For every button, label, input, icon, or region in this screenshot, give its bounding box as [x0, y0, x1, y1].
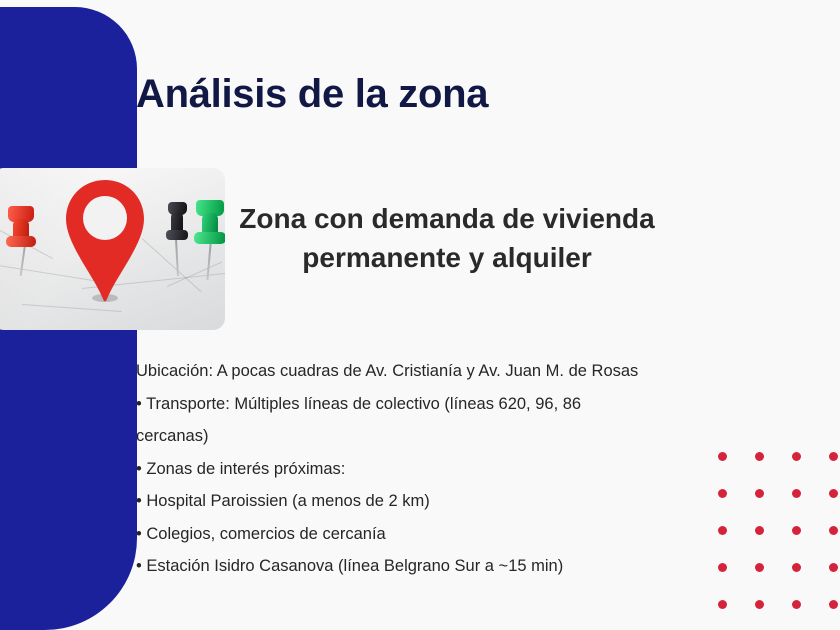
decor-dot — [755, 489, 764, 498]
decor-dot — [792, 526, 801, 535]
decor-dot — [755, 452, 764, 461]
decor-dot — [829, 563, 838, 572]
decor-dot — [755, 600, 764, 609]
map-marker-icon — [64, 178, 146, 304]
body-line: Ubicación: A pocas cuadras de Av. Cristi… — [136, 355, 736, 388]
map-pin-photo — [0, 168, 225, 330]
decor-dot — [755, 526, 764, 535]
body-line: • Hospital Paroissien (a menos de 2 km) — [136, 485, 736, 518]
decor-dot — [829, 489, 838, 498]
red-dot-grid — [718, 452, 840, 630]
decor-dot — [792, 452, 801, 461]
slide-subtitle: Zona con demanda de vivienda permanente … — [237, 199, 657, 277]
decor-dot — [792, 600, 801, 609]
body-line: cercanas) — [136, 420, 736, 453]
slide-canvas: Análisis de la zona Zona con demanda de … — [0, 0, 840, 630]
decor-dot — [792, 489, 801, 498]
decor-dot — [755, 563, 764, 572]
page-title: Análisis de la zona — [136, 72, 488, 117]
decor-dot — [829, 452, 838, 461]
decor-dot — [829, 600, 838, 609]
body-line: • Estación Isidro Casanova (línea Belgra… — [136, 550, 736, 583]
decor-dot — [792, 563, 801, 572]
body-line: • Transporte: Múltiples líneas de colect… — [136, 388, 736, 421]
body-line: • Colegios, comercios de cercanía — [136, 518, 736, 551]
decor-dot — [829, 526, 838, 535]
body-text-block: Ubicación: A pocas cuadras de Av. Cristi… — [136, 355, 736, 583]
decor-dot — [718, 600, 727, 609]
body-line: • Zonas de interés próximas: — [136, 453, 736, 486]
